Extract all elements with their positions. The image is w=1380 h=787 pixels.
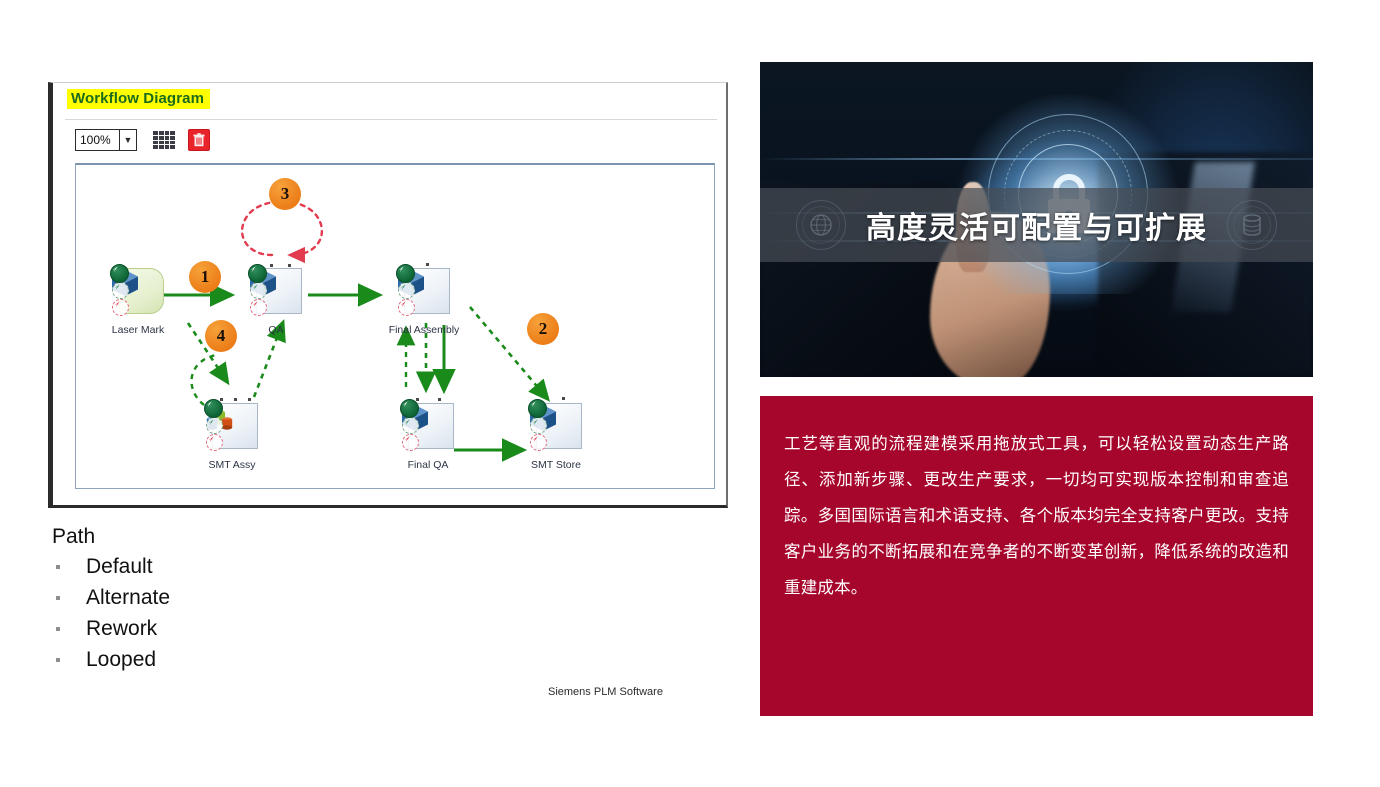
callout-badge-3[interactable]: 3 — [269, 178, 301, 210]
status-badge-green[interactable] — [396, 264, 415, 283]
callout-badge-4[interactable]: 4 — [205, 320, 237, 352]
status-badge-alternate[interactable] — [112, 282, 129, 299]
arrow-icon — [397, 265, 406, 274]
status-badge-rework[interactable] — [402, 434, 419, 451]
node-port — [438, 398, 441, 401]
status-badge-alternate[interactable] — [398, 282, 415, 299]
path-label: Default — [86, 555, 153, 579]
node-label: Laser Mark — [88, 324, 188, 336]
workflow-node-final-qa[interactable]: Final QA — [400, 403, 454, 457]
node-label: SMT Store — [506, 459, 606, 471]
left-column: Workflow Diagram 100% ▼ — [0, 0, 745, 787]
trash-icon — [193, 133, 205, 147]
arrow-icon — [251, 283, 260, 292]
node-port — [426, 263, 429, 266]
grid-icon[interactable] — [153, 131, 175, 149]
status-badge-green[interactable] — [528, 399, 547, 418]
workflow-node-qa[interactable]: QA — [248, 268, 302, 322]
list-item: Rework — [50, 617, 370, 641]
hero-title-bar: 高度灵活可配置与可扩展 — [760, 188, 1313, 262]
callout-badge-1[interactable]: 1 — [189, 261, 221, 293]
node-label: Final QA — [378, 459, 478, 471]
workflow-node-final-assembly[interactable]: Final Assembly — [396, 268, 450, 322]
workflow-panel: Workflow Diagram 100% ▼ — [48, 82, 728, 508]
list-item: Alternate — [50, 586, 370, 610]
status-badge-green[interactable] — [248, 264, 267, 283]
workflow-node-laser-mark[interactable]: Laser Mark — [110, 268, 164, 322]
arrow-icon — [529, 400, 538, 409]
arrow-icon — [113, 283, 122, 292]
status-badge-green[interactable] — [400, 399, 419, 418]
page-title: Workflow Diagram — [67, 89, 210, 109]
arrow-icon — [399, 300, 408, 309]
arrow-icon — [399, 283, 408, 292]
bullet-icon — [56, 627, 60, 631]
node-port — [562, 397, 565, 400]
panel-title-row: Workflow Diagram — [53, 83, 726, 117]
status-badge-rework[interactable] — [398, 299, 415, 316]
arrow-icon — [401, 400, 410, 409]
bullet-icon — [56, 596, 60, 600]
delete-button[interactable] — [188, 129, 210, 151]
arrow-icon — [249, 265, 258, 274]
chevron-down-icon[interactable]: ▼ — [119, 130, 136, 150]
status-badge-alternate[interactable] — [250, 282, 267, 299]
arrow-icon — [111, 265, 120, 274]
path-legend-heading: Path — [52, 525, 370, 549]
hero-image: 高度灵活可配置与可扩展 — [760, 62, 1313, 377]
status-badge-green[interactable] — [110, 264, 129, 283]
node-port — [416, 398, 419, 401]
bullet-icon — [56, 565, 60, 569]
arrow-icon — [403, 435, 412, 444]
status-badge-green[interactable] — [204, 399, 223, 418]
status-badge-alternate[interactable] — [206, 417, 223, 434]
arrow-icon — [205, 400, 214, 409]
status-badge-alternate[interactable] — [530, 417, 547, 434]
path-label: Alternate — [86, 586, 170, 610]
list-item: Looped — [50, 648, 370, 672]
workflow-toolbar: 100% ▼ — [75, 129, 715, 155]
zoom-select[interactable]: 100% ▼ — [75, 129, 137, 151]
red-description-panel: 工艺等直观的流程建模采用拖放式工具，可以轻松设置动态生产路径、添加新步骤、更改生… — [760, 396, 1313, 716]
node-label: Final Assembly — [374, 324, 474, 336]
red-panel-body: 工艺等直观的流程建模采用拖放式工具，可以轻松设置动态生产路径、添加新步骤、更改生… — [784, 426, 1289, 606]
arrow-icon — [207, 435, 216, 444]
node-port — [234, 398, 237, 401]
status-badge-rework[interactable] — [112, 299, 129, 316]
arrow-icon — [403, 418, 412, 427]
node-label: QA — [226, 324, 326, 336]
path-label: Rework — [86, 617, 157, 641]
arrow-icon — [207, 418, 216, 427]
hero-title: 高度灵活可配置与可扩展 — [866, 203, 1207, 247]
bullet-icon — [56, 658, 60, 662]
status-badge-rework[interactable] — [530, 434, 547, 451]
workflow-node-smt-store[interactable]: SMT Store — [528, 403, 582, 457]
workflow-canvas[interactable]: Laser Mark — [75, 163, 715, 489]
path-label: Looped — [86, 648, 156, 672]
arrow-icon — [531, 418, 540, 427]
node-port — [248, 398, 251, 401]
node-label: SMT Assy — [182, 459, 282, 471]
workflow-node-smt-assy[interactable]: SMT Assy — [204, 403, 258, 457]
divider — [65, 119, 717, 120]
list-item: Default — [50, 555, 370, 579]
node-port — [270, 264, 273, 267]
status-badge-rework[interactable] — [206, 434, 223, 451]
node-port — [288, 264, 291, 267]
status-badge-alternate[interactable] — [402, 417, 419, 434]
arrow-icon — [531, 435, 540, 444]
callout-badge-2[interactable]: 2 — [527, 313, 559, 345]
zoom-level-value: 100% — [76, 130, 111, 150]
arrow-icon — [251, 300, 260, 309]
arrow-icon — [113, 300, 122, 309]
siemens-credit: Siemens PLM Software — [548, 686, 663, 698]
status-badge-rework[interactable] — [250, 299, 267, 316]
path-legend: Path Default Alternate Rework Looped — [50, 525, 370, 679]
node-port — [220, 398, 223, 401]
